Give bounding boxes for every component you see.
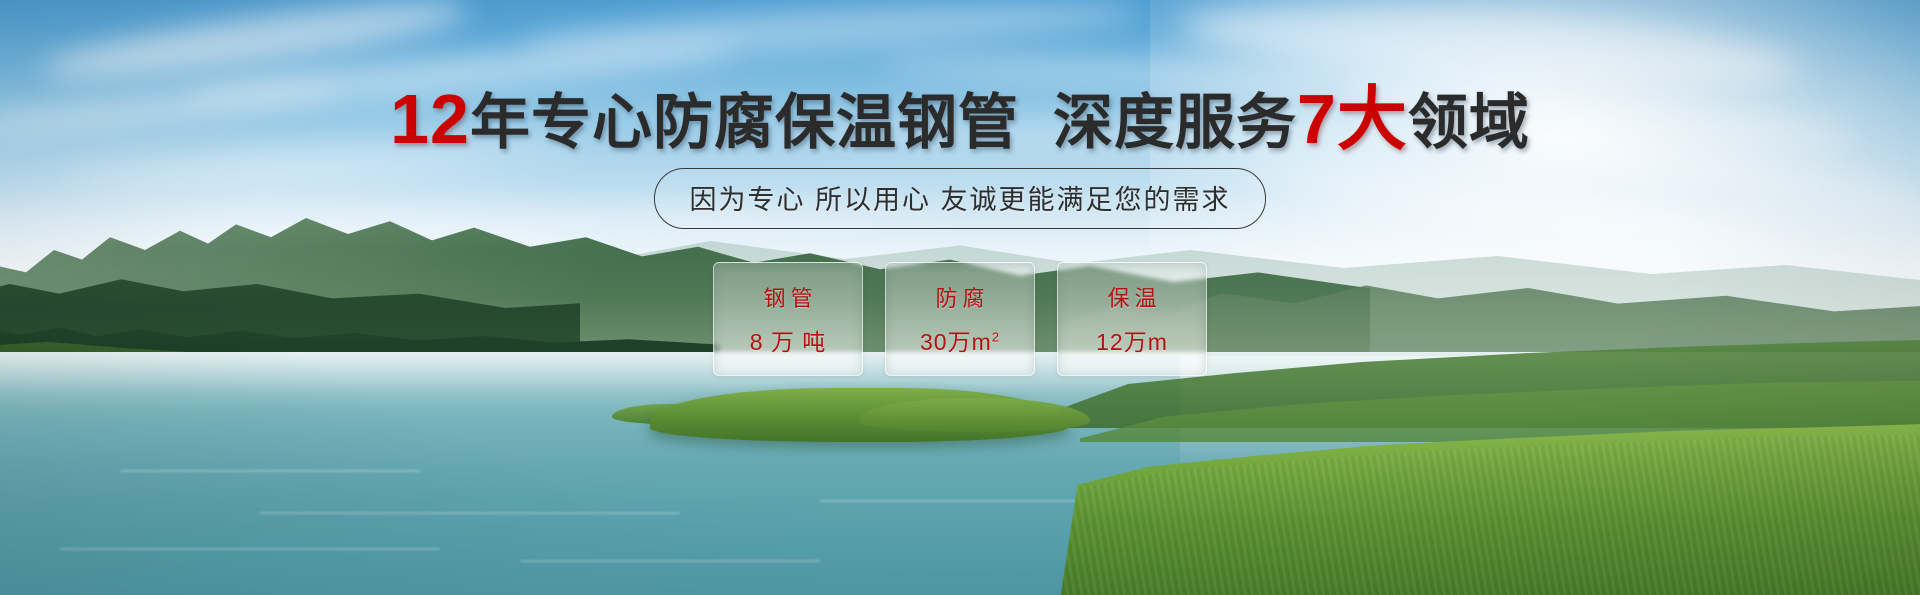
headline-years-number: 12 (390, 80, 470, 158)
stat-card-insulation[interactable]: 保温 12万m (1057, 262, 1207, 376)
stat-card-value-main: 8 万 吨 (750, 329, 827, 355)
headline-second-tail: 领域 (1408, 89, 1530, 156)
stat-card-anticorrosion[interactable]: 防腐 30万m2 (885, 262, 1035, 376)
stat-card-group: 钢管 8 万 吨 防腐 30万m2 保温 12万m (0, 262, 1920, 376)
headline-second-text: 深度服务 (1053, 89, 1297, 156)
stat-card-value-superscript: 2 (992, 329, 1000, 344)
stat-card-value: 30万m2 (920, 323, 1000, 357)
stat-card-value-main: 30万m (920, 329, 992, 355)
headline-fields-number: 7 (1297, 80, 1337, 158)
banner-subtitle-wrapper: 因为专心 所以用心 友诚更能满足您的需求 (0, 168, 1920, 229)
banner-headline: 12年专心防腐保温钢管深度服务7大领域 (0, 84, 1920, 154)
stat-card-label: 保温 (1102, 281, 1161, 313)
headline-lead-text: 年专心防腐保温钢管 (470, 89, 1019, 156)
stat-card-value-main: 12万m (1096, 329, 1168, 355)
banner-subtitle-pill: 因为专心 所以用心 友诚更能满足您的需求 (654, 168, 1265, 229)
stat-card-label: 防腐 (930, 281, 989, 313)
stat-card-value: 8 万 吨 (750, 323, 827, 357)
stat-card-value: 12万m (1096, 323, 1168, 357)
stat-card-steel-pipe[interactable]: 钢管 8 万 吨 (713, 262, 863, 376)
headline-fields-unit: 大 (1337, 80, 1408, 158)
hero-banner: 12年专心防腐保温钢管深度服务7大领域 因为专心 所以用心 友诚更能满足您的需求… (0, 0, 1920, 595)
banner-content: 12年专心防腐保温钢管深度服务7大领域 因为专心 所以用心 友诚更能满足您的需求… (0, 0, 1920, 595)
stat-card-label: 钢管 (758, 281, 817, 313)
